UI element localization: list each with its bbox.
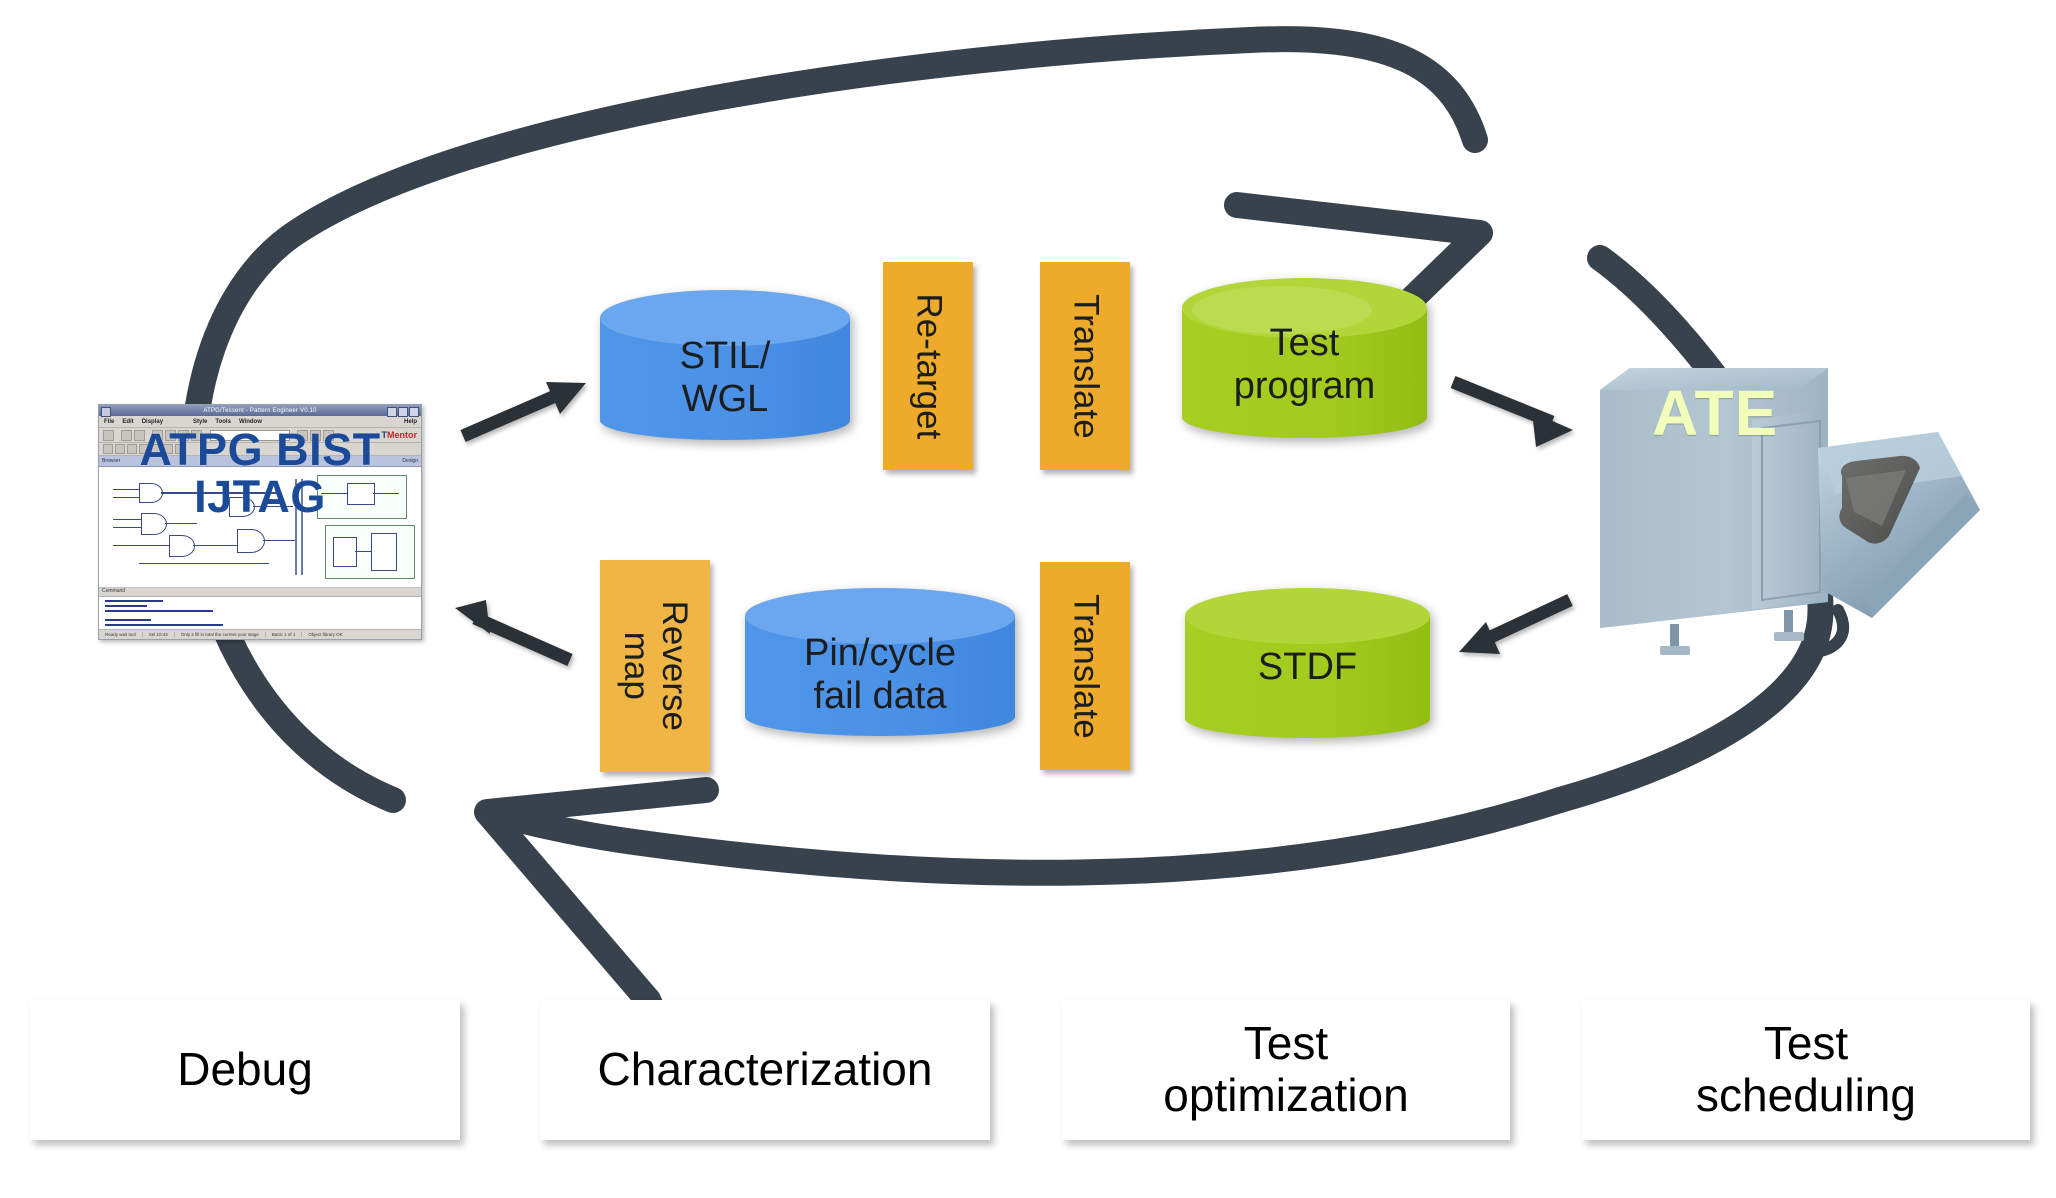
process-label: Translate (1067, 594, 1104, 739)
card-test-scheduling[interactable]: Test scheduling (1582, 1000, 2030, 1140)
arrow-reversemap-to-eda (455, 600, 570, 660)
toolbar2-icon-4[interactable] (139, 444, 149, 454)
status-3: Basic 1 of 1 (266, 632, 303, 637)
toolbar2-icon-1[interactable] (103, 444, 113, 454)
eda-menubar: File Edit Display Style Tools Window Hel… (99, 416, 421, 428)
eda-statusbar: Ready wait tool Sel 10:43 Only 2 fill in… (99, 629, 421, 639)
diagram-canvas: ATPG/Tessent - Pattern Engineer V0.10 Fi… (0, 0, 2056, 1198)
process-label: Reverse map (617, 601, 693, 731)
status-2: Only 2 fill in total the current your st… (175, 632, 266, 637)
cylinder-pin-cycle-fail-data[interactable]: Pin/cycle fail data (745, 588, 1015, 756)
process-label: Translate (1067, 294, 1104, 439)
process-translate-top[interactable]: Translate (1040, 262, 1130, 470)
toolbar2-icon-5[interactable] (151, 444, 161, 454)
menu-file[interactable]: File (104, 419, 114, 425)
card-test-optimization[interactable]: Test optimization (1062, 1000, 1510, 1140)
ate-machine[interactable]: ATE (1570, 280, 2010, 660)
card-label: Characterization (598, 1044, 933, 1096)
card-label: Debug (177, 1044, 313, 1096)
menu-style[interactable]: Style (193, 419, 207, 425)
card-characterization[interactable]: Characterization (540, 1000, 990, 1140)
cylinder-label: STIL/ WGL (600, 335, 850, 420)
eda-toolbar-secondary (99, 443, 421, 456)
status-1: Sel 10:43 (143, 632, 175, 637)
eda-tool-screenshot: ATPG/Tessent - Pattern Engineer V0.10 Fi… (98, 404, 422, 640)
zoom-fit-icon[interactable] (191, 430, 202, 441)
cylinder-label: Test program (1182, 322, 1427, 407)
cylinder-test-program[interactable]: Test program (1182, 278, 1427, 458)
status-4: Object library OK (302, 632, 348, 637)
card-label: Test scheduling (1696, 1018, 1916, 1121)
arrow-ate-to-stdf (1459, 600, 1570, 654)
eda-schematic-canvas (99, 467, 421, 588)
toolbar-icon-7[interactable] (323, 430, 334, 441)
cylinder-label: STDF (1185, 646, 1430, 689)
menu-help[interactable]: Help (404, 419, 421, 425)
process-re-target[interactable]: Re-target (883, 262, 973, 470)
menu-tools[interactable]: Tools (215, 419, 231, 425)
cylinder-stdf[interactable]: STDF (1185, 588, 1430, 758)
console-header: Command (99, 588, 421, 597)
toolbar-icon-5[interactable] (297, 430, 308, 441)
tab-browser[interactable]: Browser (102, 458, 120, 464)
zoom-out-icon[interactable] (178, 430, 189, 441)
eda-window-title: ATPG/Tessent - Pattern Engineer V0.10 (203, 408, 316, 414)
toolbar-search-input[interactable] (210, 430, 290, 441)
toolbar2-icon-2[interactable] (115, 444, 125, 454)
vendor-logo: TMentor (382, 430, 418, 440)
toolbar2-icon-6[interactable] (163, 444, 173, 454)
eda-titlebar: ATPG/Tessent - Pattern Engineer V0.10 (99, 405, 421, 416)
card-label: Test optimization (1163, 1018, 1408, 1121)
status-0: Ready wait tool (99, 632, 143, 637)
window-controls (387, 407, 419, 417)
eda-tabstrip: Browser Design (99, 456, 421, 467)
toolbar-icon-2[interactable] (121, 430, 132, 441)
menu-display[interactable]: Display (142, 419, 163, 425)
toolbar2-icon-7[interactable] (175, 444, 185, 454)
menu-edit[interactable]: Edit (122, 419, 133, 425)
card-debug[interactable]: Debug (30, 1000, 460, 1140)
cylinder-top (1185, 588, 1430, 644)
eda-toolbar: TMentor (99, 428, 421, 443)
menu-window[interactable]: Window (239, 419, 262, 425)
zoom-in-icon[interactable] (165, 430, 176, 441)
cylinder-label: Pin/cycle fail data (745, 632, 1015, 717)
toolbar-icon-3[interactable] (134, 430, 145, 441)
toolbar-icon-6[interactable] (310, 430, 321, 441)
arrow-testprogram-to-ate (1453, 382, 1573, 447)
window-icon (101, 407, 111, 417)
ate-cabinet (1600, 368, 1828, 628)
arrow-eda-to-stil (463, 382, 586, 436)
tab-design[interactable]: Design (402, 458, 418, 464)
toolbar2-icon-3[interactable] (127, 444, 137, 454)
toolbar-icon-1[interactable] (103, 430, 114, 441)
process-translate-bottom[interactable]: Translate (1040, 562, 1130, 770)
ate-test-head (1818, 432, 1980, 618)
cylinder-stil-wgl[interactable]: STIL/ WGL (600, 290, 850, 460)
process-reverse-map[interactable]: Reverse map (600, 560, 710, 772)
process-label: Re-target (910, 293, 947, 439)
toolbar-icon-4[interactable] (152, 430, 163, 441)
